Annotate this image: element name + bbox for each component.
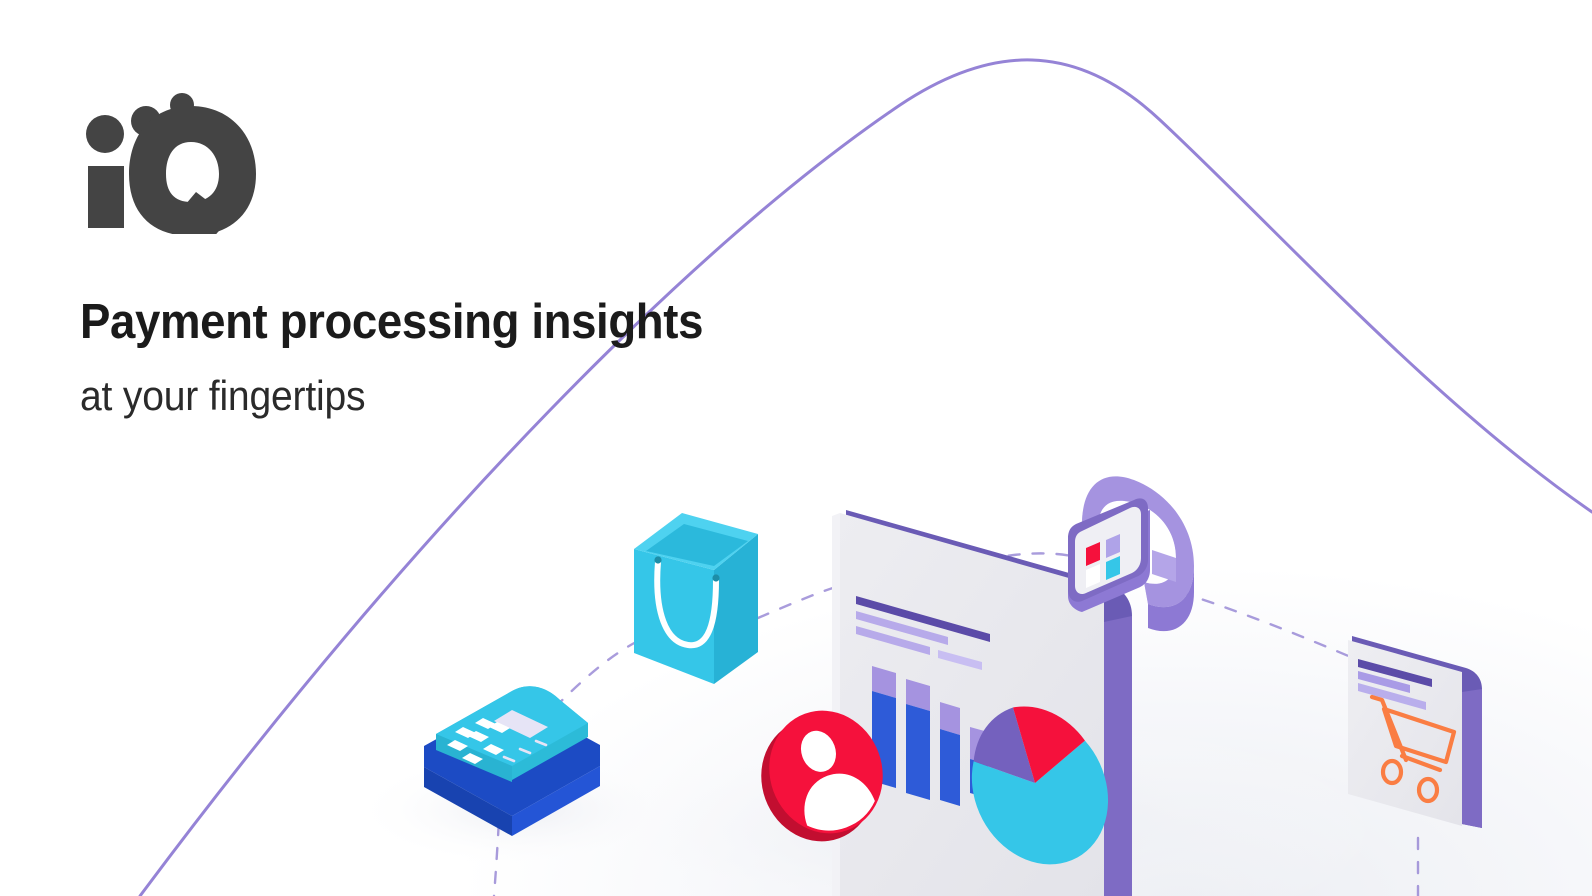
shopping-bag[interactable] (634, 513, 758, 684)
bar-2 (906, 679, 930, 800)
shopping-bag-front (634, 549, 714, 684)
ecommerce-card[interactable] (1348, 636, 1482, 828)
bar-3 (940, 702, 960, 806)
ecommerce-card-edge (1462, 689, 1482, 828)
dashed-connector-watch-cart (1180, 592, 1372, 666)
illustration-layer (0, 0, 1592, 896)
dashboard-frame-edge (1104, 616, 1132, 896)
hero-banner: Payment processing insights at your fing… (0, 0, 1592, 896)
bar-2-lower (906, 704, 930, 800)
shopping-bag-handle-hole-right (712, 574, 719, 581)
bar-3-lower (940, 729, 960, 806)
shopping-bag-handle-hole-left (654, 556, 661, 563)
watch-strap-clasp (1152, 550, 1176, 582)
